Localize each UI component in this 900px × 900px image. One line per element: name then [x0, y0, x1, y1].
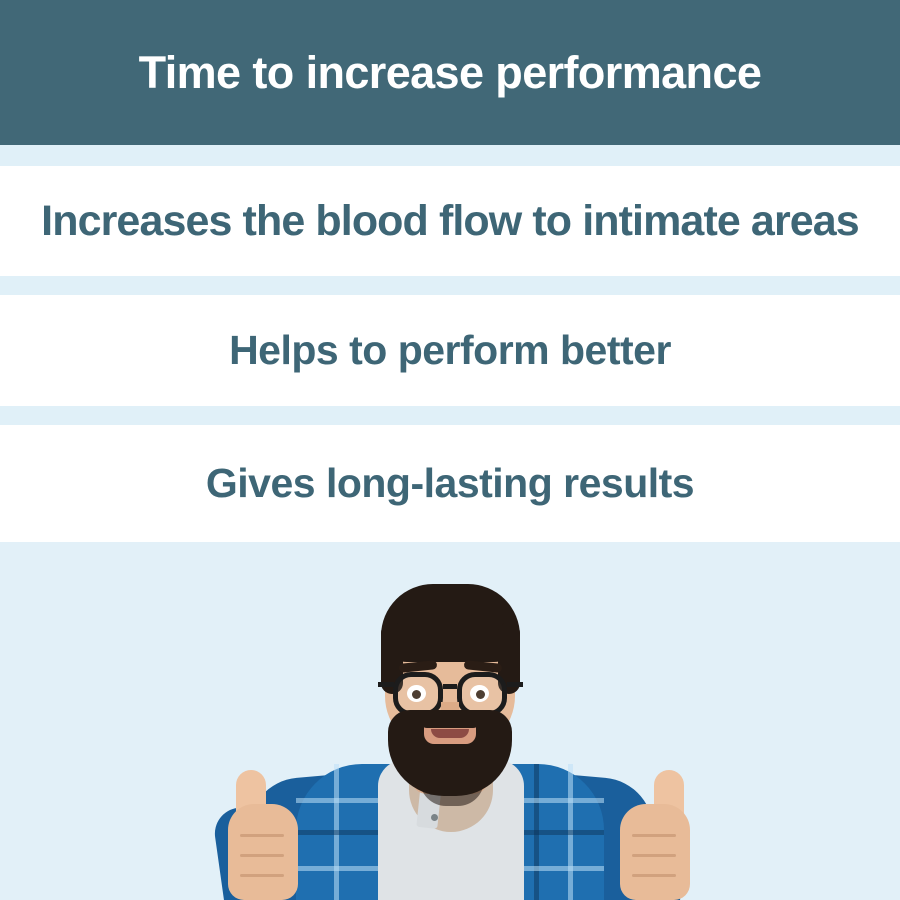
promo-benefits-card: Time to increase performance Increases t…: [0, 0, 900, 900]
hand-left-thumbs-up-icon: [228, 804, 298, 900]
benefit-row: Increases the blood flow to intimate are…: [0, 166, 900, 276]
eyeglass-temple-left: [378, 682, 394, 687]
hand-right-thumbs-up-icon: [620, 804, 690, 900]
eyeglass-bridge: [443, 684, 457, 689]
knuckle-line: [632, 874, 676, 877]
benefit-row: Helps to perform better: [0, 295, 900, 406]
benefit-label: Helps to perform better: [229, 330, 671, 371]
benefit-label: Gives long-lasting results: [206, 463, 694, 504]
benefit-label: Increases the blood flow to intimate are…: [41, 200, 859, 243]
mouth: [431, 729, 469, 738]
page-title: Time to increase performance: [139, 50, 762, 95]
benefit-row: Gives long-lasting results: [0, 425, 900, 542]
divider-strip-1: [0, 276, 900, 295]
knuckle-line: [240, 854, 284, 857]
divider-strip-2: [0, 406, 900, 425]
eyeglass-temple-right: [507, 682, 523, 687]
knuckle-line: [632, 854, 676, 857]
moustache: [420, 714, 480, 728]
knuckle-line: [240, 834, 284, 837]
divider-strip-0: [0, 145, 900, 166]
hero-photo: [0, 542, 900, 900]
knuckle-line: [240, 874, 284, 877]
knuckle-line: [632, 834, 676, 837]
shirt-button: [431, 814, 438, 821]
header-banner: Time to increase performance: [0, 0, 900, 145]
man-thumbs-up-illustration: [0, 542, 900, 900]
